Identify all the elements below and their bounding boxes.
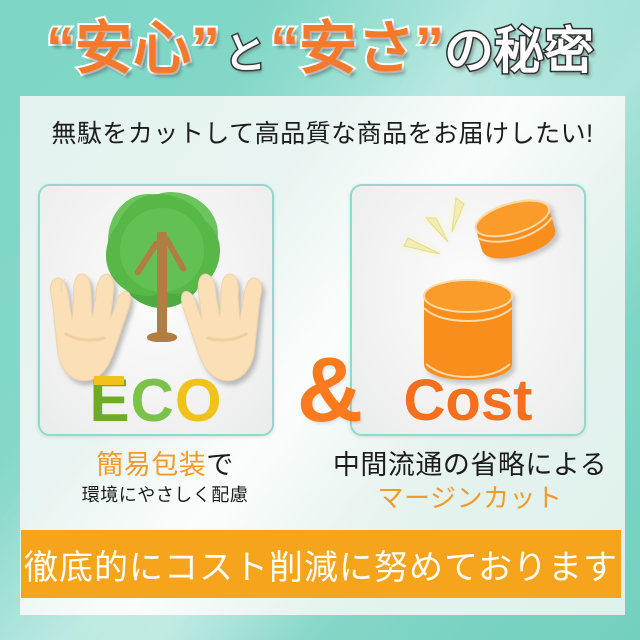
hand-right-icon <box>180 258 266 384</box>
caption-eco-main-suffix: で <box>206 450 234 480</box>
ampersand-symbol: & <box>282 344 378 436</box>
can-icon <box>420 278 516 382</box>
header-quote-open-1: “ <box>46 6 75 92</box>
hand-left-icon <box>46 258 132 384</box>
hand-right-glyph <box>180 258 266 384</box>
caption-eco-main: 簡易包装で <box>20 448 310 482</box>
hands-icon <box>46 258 132 384</box>
header-quote-open-2: “ <box>270 6 299 92</box>
subtitle-text: 無駄をカットして高品質な商品をお届けしたい! <box>20 114 625 150</box>
caption-cost-sub: マージンカット <box>325 482 615 514</box>
tree-root <box>147 332 177 342</box>
caption-eco: 簡易包装で 環境にやさしく配慮 <box>20 448 310 508</box>
eco-letter-e: E <box>89 367 130 434</box>
bottom-banner: 徹底的にコスト削減に努めております <box>21 530 621 598</box>
eco-word-label: ECO <box>40 370 272 432</box>
spark-icon <box>400 194 484 272</box>
caption-cost: 中間流通の省略による マージンカット <box>325 448 615 514</box>
header-suffix-himitsu: の秘密 <box>444 8 594 94</box>
can-glyph <box>420 278 516 382</box>
header-quote-close-1: ” <box>191 6 220 92</box>
eco-letter-c: C <box>131 367 175 434</box>
header-quote-close-2: ” <box>415 6 444 92</box>
cost-word-label: Cost <box>352 370 584 432</box>
bottom-banner-text: 徹底的にコスト削減に努めております <box>24 540 618 589</box>
caption-eco-sub: 環境にやさしく配慮 <box>20 482 310 508</box>
poster-header: “安心”と“安さ”の秘密 <box>0 6 640 92</box>
header-conjunction: と <box>220 11 270 97</box>
caption-eco-main-highlight: 簡易包装 <box>96 450 206 480</box>
spark-lines-glyph <box>400 194 484 272</box>
header-keyword-anshin: 安心 <box>75 6 191 92</box>
caption-cost-main: 中間流通の省略による <box>325 448 615 482</box>
promo-poster: “安心”と“安さ”の秘密 無駄をカットして高品質な商品をお届けしたい! <box>0 0 640 640</box>
header-keyword-yasusa: 安さ <box>299 6 415 92</box>
panel-eco: ECO <box>38 184 274 436</box>
panel-cost: Cost <box>350 184 586 436</box>
eco-letter-o: O <box>175 367 223 434</box>
tree-trunk <box>157 232 167 340</box>
